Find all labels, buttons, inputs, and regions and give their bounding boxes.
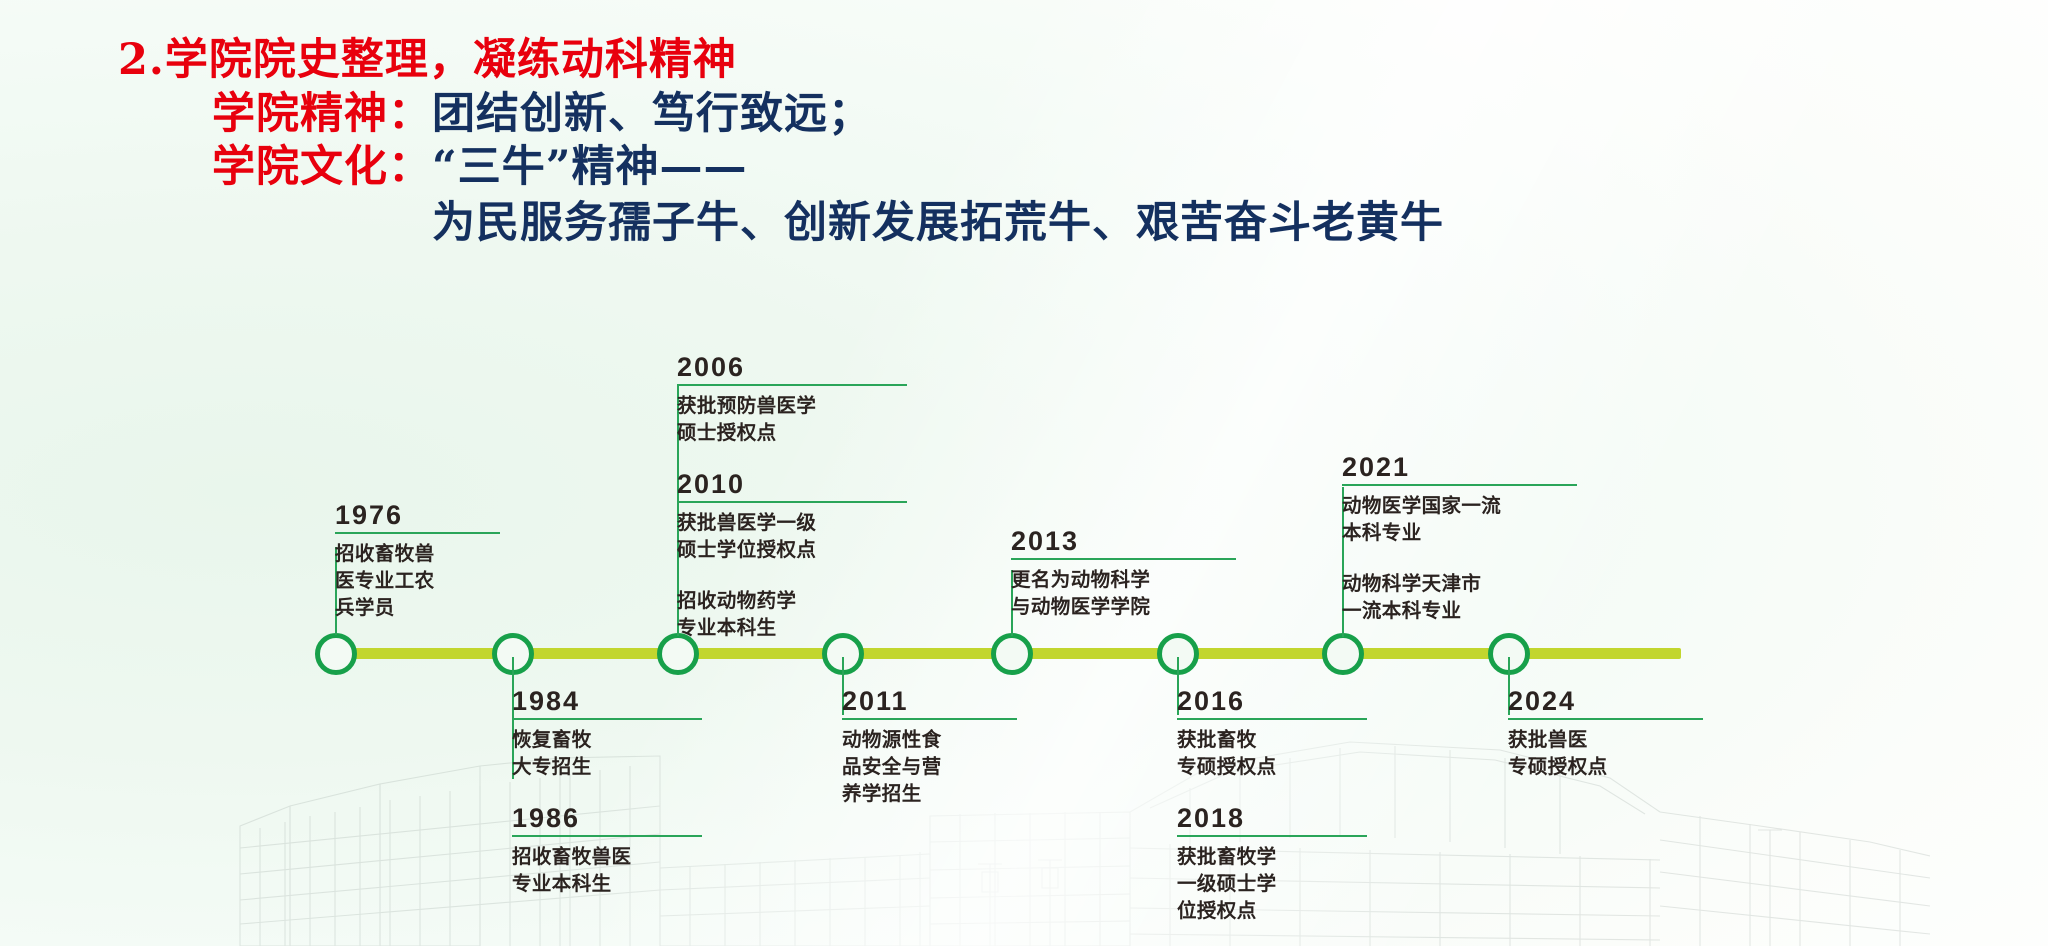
timeline-year-2021: 2021 bbox=[1342, 452, 1577, 482]
timeline-rule-2016 bbox=[1177, 718, 1367, 720]
timeline-year-2016: 2016 bbox=[1177, 686, 1367, 716]
timeline-desc-2018: 获批畜牧学 一级硕士学 位授权点 bbox=[1177, 844, 1367, 925]
timeline-rule-1986 bbox=[512, 835, 702, 837]
timeline-card-2011[interactable]: 2011 动物源性食 品安全与营 养学招生 bbox=[842, 686, 1017, 808]
timeline-rule-2021 bbox=[1342, 484, 1577, 486]
timeline-card-2016[interactable]: 2016 获批畜牧 专硕授权点 2018 获批畜牧学 一级硕士学 位授权点 bbox=[1177, 686, 1367, 925]
timeline-rule-2011 bbox=[842, 718, 1017, 720]
timeline-card-2006[interactable]: 2006 获批预防兽医学 硕士授权点 2010 获批兽医学一级 硕士学位授权点 … bbox=[677, 352, 907, 642]
timeline-desc-2011: 动物源性食 品安全与营 养学招生 bbox=[842, 727, 1017, 808]
timeline-desc-2021: 动物医学国家一流 本科专业 bbox=[1342, 493, 1577, 547]
timeline-node-2021[interactable] bbox=[1322, 633, 1364, 675]
timeline-rule-2006 bbox=[677, 384, 907, 386]
slide-canvas: 2.学院院史整理，凝练动科精神 学院精神：团结创新、笃行致远； 学院文化：“三牛… bbox=[0, 0, 2048, 946]
timeline-desc-1976: 招收畜牧兽 医专业工农 兵学员 bbox=[335, 541, 500, 622]
timeline-year-1976: 1976 bbox=[335, 500, 500, 530]
timeline-desc-2021-extra: 动物科学天津市 一流本科专业 bbox=[1342, 571, 1577, 625]
timeline: 1976 招收畜牧兽 医专业工农 兵学员 1984 恢复畜牧 大专招生 1986… bbox=[0, 0, 2048, 946]
timeline-year-2013: 2013 bbox=[1011, 526, 1236, 556]
timeline-year-2010: 2010 bbox=[677, 469, 907, 499]
timeline-desc-1984: 恢复畜牧 大专招生 bbox=[512, 727, 702, 781]
timeline-node-2013[interactable] bbox=[991, 633, 1033, 675]
timeline-year-2018: 2018 bbox=[1177, 803, 1367, 833]
timeline-year-1986: 1986 bbox=[512, 803, 702, 833]
timeline-desc-2013: 更名为动物科学 与动物医学学院 bbox=[1011, 567, 1236, 621]
timeline-card-2013[interactable]: 2013 更名为动物科学 与动物医学学院 bbox=[1011, 526, 1236, 621]
timeline-desc-2024: 获批兽医 专硕授权点 bbox=[1508, 727, 1703, 781]
timeline-rule-2013 bbox=[1011, 558, 1236, 560]
timeline-rule-1984 bbox=[512, 718, 702, 720]
timeline-rule-1976 bbox=[335, 532, 500, 534]
timeline-desc-2016: 获批畜牧 专硕授权点 bbox=[1177, 727, 1367, 781]
timeline-year-2006: 2006 bbox=[677, 352, 907, 382]
timeline-rule-2010 bbox=[677, 501, 907, 503]
timeline-card-2024[interactable]: 2024 获批兽医 专硕授权点 bbox=[1508, 686, 1703, 781]
timeline-node-1976[interactable] bbox=[315, 633, 357, 675]
timeline-year-2011: 2011 bbox=[842, 686, 1017, 716]
timeline-year-2024: 2024 bbox=[1508, 686, 1703, 716]
timeline-card-2021[interactable]: 2021 动物医学国家一流 本科专业 动物科学天津市 一流本科专业 bbox=[1342, 452, 1577, 625]
timeline-rule-2018 bbox=[1177, 835, 1367, 837]
timeline-desc-2010-extra: 招收动物药学 专业本科生 bbox=[677, 588, 907, 642]
timeline-desc-1986: 招收畜牧兽医 专业本科生 bbox=[512, 844, 702, 898]
timeline-card-1984[interactable]: 1984 恢复畜牧 大专招生 1986 招收畜牧兽医 专业本科生 bbox=[512, 686, 702, 898]
timeline-year-1984: 1984 bbox=[512, 686, 702, 716]
timeline-card-1976[interactable]: 1976 招收畜牧兽 医专业工农 兵学员 bbox=[335, 500, 500, 622]
timeline-desc-2006: 获批预防兽医学 硕士授权点 bbox=[677, 393, 907, 447]
timeline-desc-2010: 获批兽医学一级 硕士学位授权点 bbox=[677, 510, 907, 564]
timeline-rule-2024 bbox=[1508, 718, 1703, 720]
